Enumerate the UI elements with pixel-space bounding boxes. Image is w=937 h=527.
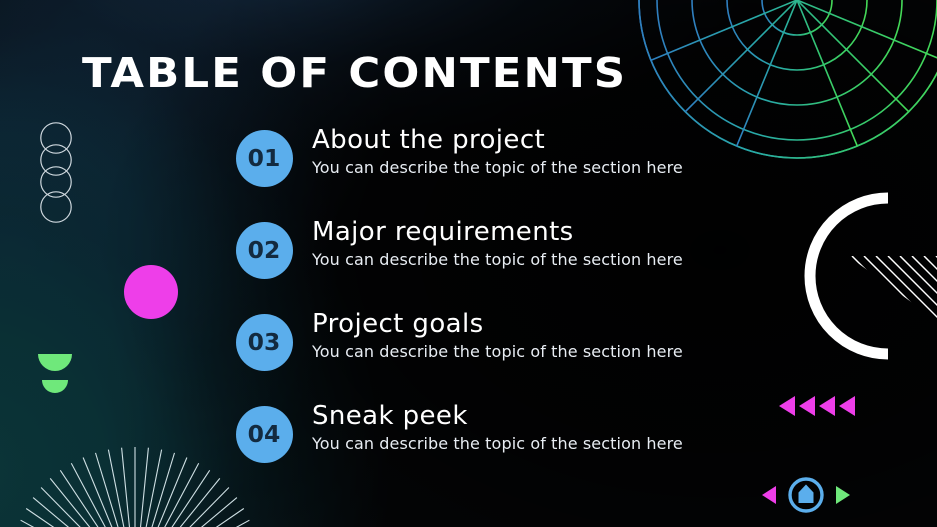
- magenta-triangle-left-icon: [839, 396, 855, 416]
- toc-number-badge: 01: [236, 130, 293, 187]
- toc-item-heading: Project goals: [312, 307, 683, 341]
- toc-item-text: About the project You can describe the t…: [312, 123, 683, 178]
- toc-number-badge: 03: [236, 314, 293, 371]
- toc-number-badge: 02: [236, 222, 293, 279]
- toc-item-subtitle: You can describe the topic of the sectio…: [312, 342, 683, 362]
- bottom-badge-group: [762, 476, 850, 514]
- toc-item-heading: Sneak peek: [312, 399, 683, 433]
- magenta-triangle-left-icon: [799, 396, 815, 416]
- magenta-triangles-group: [779, 396, 855, 416]
- toc-item-02[interactable]: 02 Major requirements You can describe t…: [236, 215, 756, 307]
- toc-item-subtitle: You can describe the topic of the sectio…: [312, 250, 683, 270]
- toc-item-03[interactable]: 03 Project goals You can describe the to…: [236, 307, 756, 399]
- stacked-circles-icon: [31, 122, 81, 227]
- toc-item-01[interactable]: 01 About the project You can describe th…: [236, 123, 756, 215]
- toc-number-label: 02: [248, 238, 281, 264]
- green-half-circles-icon: [36, 352, 74, 402]
- magenta-triangle-left-icon: [779, 396, 795, 416]
- toc-item-subtitle: You can describe the topic of the sectio…: [312, 434, 683, 454]
- toc-item-text: Sneak peek You can describe the topic of…: [312, 399, 683, 454]
- magenta-circle-icon: [124, 265, 178, 319]
- table-of-contents-list: 01 About the project You can describe th…: [236, 123, 756, 491]
- toc-item-text: Project goals You can describe the topic…: [312, 307, 683, 362]
- green-triangle-right-icon: [836, 486, 850, 504]
- house-in-circle-icon: [787, 476, 825, 514]
- toc-number-label: 03: [248, 330, 281, 356]
- toc-item-heading: Major requirements: [312, 215, 683, 249]
- toc-number-label: 04: [248, 422, 281, 448]
- page-title: TABLE OF CONTENTS: [82, 53, 627, 94]
- white-arc-icon: [780, 186, 900, 366]
- magenta-triangle-left-icon: [762, 486, 776, 504]
- magenta-triangle-left-icon: [819, 396, 835, 416]
- toc-number-label: 01: [248, 146, 281, 172]
- hatch-triangle-icon: [848, 256, 937, 336]
- toc-item-04[interactable]: 04 Sneak peek You can describe the topic…: [236, 399, 756, 491]
- toc-item-subtitle: You can describe the topic of the sectio…: [312, 158, 683, 178]
- toc-item-heading: About the project: [312, 123, 683, 157]
- toc-slide: TABLE OF CONTENTS 01 About the project Y…: [0, 0, 937, 527]
- toc-item-text: Major requirements You can describe the …: [312, 215, 683, 270]
- toc-number-badge: 04: [236, 406, 293, 463]
